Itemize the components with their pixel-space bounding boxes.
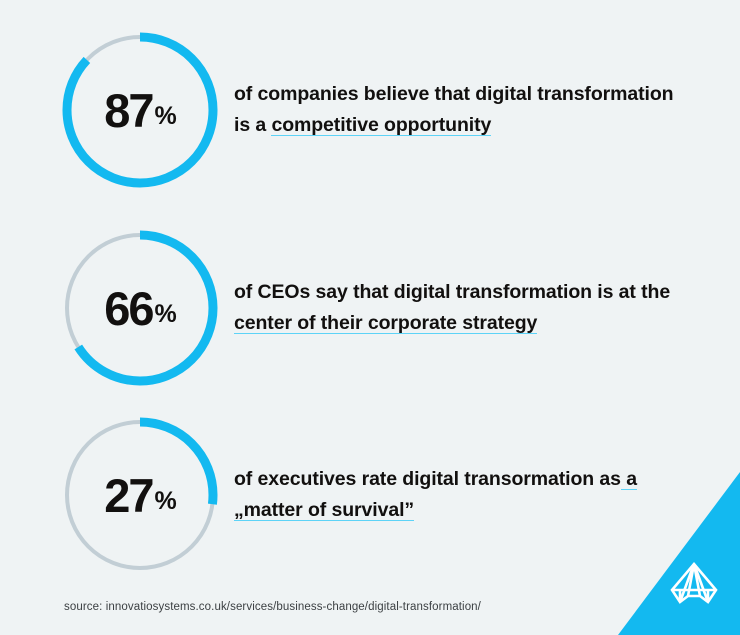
stat-row: 87 % of companies believe that digital t… <box>0 30 740 190</box>
stat-text-highlight: center of their corporate strategy <box>234 312 537 334</box>
stat-text-plain: of executives rate digital transormation… <box>234 468 621 490</box>
stat-text-plain: of CEOs say that digital transformation … <box>234 281 670 303</box>
donut-value: 27 <box>104 472 152 519</box>
stat-description: of CEOs say that digital transformation … <box>234 277 689 339</box>
donut-chart-66: 66 % <box>60 228 220 388</box>
percent-symbol: % <box>155 302 176 327</box>
infographic-canvas: 87 % of companies believe that digital t… <box>0 0 740 635</box>
stat-text-highlight: competitive opportunity <box>271 114 491 136</box>
gem-logo-icon <box>664 561 724 613</box>
donut-chart-27: 27 % <box>60 415 220 575</box>
donut-value-label: 87 % <box>60 30 220 190</box>
stat-row: 66 % of CEOs say that digital transforma… <box>0 228 740 388</box>
donut-chart-87: 87 % <box>60 30 220 190</box>
donut-value-label: 66 % <box>60 228 220 388</box>
donut-value: 87 <box>104 87 152 134</box>
stat-description: of companies believe that digital transf… <box>234 79 689 141</box>
donut-value-label: 27 % <box>60 415 220 575</box>
donut-value: 66 <box>104 285 152 332</box>
percent-symbol: % <box>155 104 176 129</box>
source-label: source: innovatiosystems.co.uk/services/… <box>64 601 481 613</box>
percent-symbol: % <box>155 489 176 514</box>
